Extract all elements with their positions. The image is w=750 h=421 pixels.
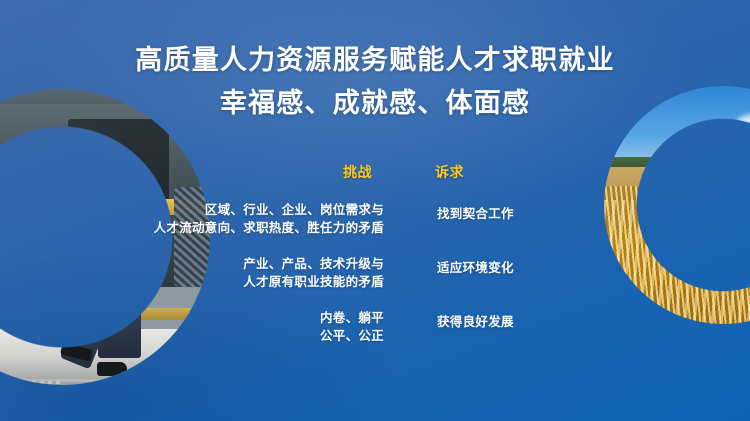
slide-canvas: 9 — [0, 0, 750, 421]
demand-cell: 找到契合工作 — [437, 205, 587, 223]
demand-cell: 获得良好发展 — [437, 313, 587, 331]
column-header-challenge: 挑战 — [343, 165, 372, 179]
challenge-cell: 区域、行业、企业、岗位需求与 人才流动意向、求职热度、胜任力的矛盾 — [124, 201, 384, 237]
challenge-cell: 内卷、躺平 公平、公正 — [124, 309, 384, 345]
demand-cell: 适应环境变化 — [437, 259, 587, 277]
challenge-cell: 产业、产品、技术升级与 人才原有职业技能的矛盾 — [124, 255, 384, 291]
challenge-line: 内卷、躺平 — [124, 309, 384, 327]
challenge-line: 人才原有职业技能的矛盾 — [124, 273, 384, 291]
challenge-line: 区域、行业、企业、岗位需求与 — [124, 201, 384, 219]
column-header-demand: 诉求 — [435, 165, 464, 179]
challenge-line: 公平、公正 — [124, 327, 384, 345]
challenge-line: 人才流动意向、求职热度、胜任力的矛盾 — [124, 219, 384, 237]
challenge-demand-matrix: 挑战 诉求 区域、行业、企业、岗位需求与 人才流动意向、求职热度、胜任力的矛盾 … — [0, 0, 750, 421]
challenge-line: 产业、产品、技术升级与 — [124, 255, 384, 273]
